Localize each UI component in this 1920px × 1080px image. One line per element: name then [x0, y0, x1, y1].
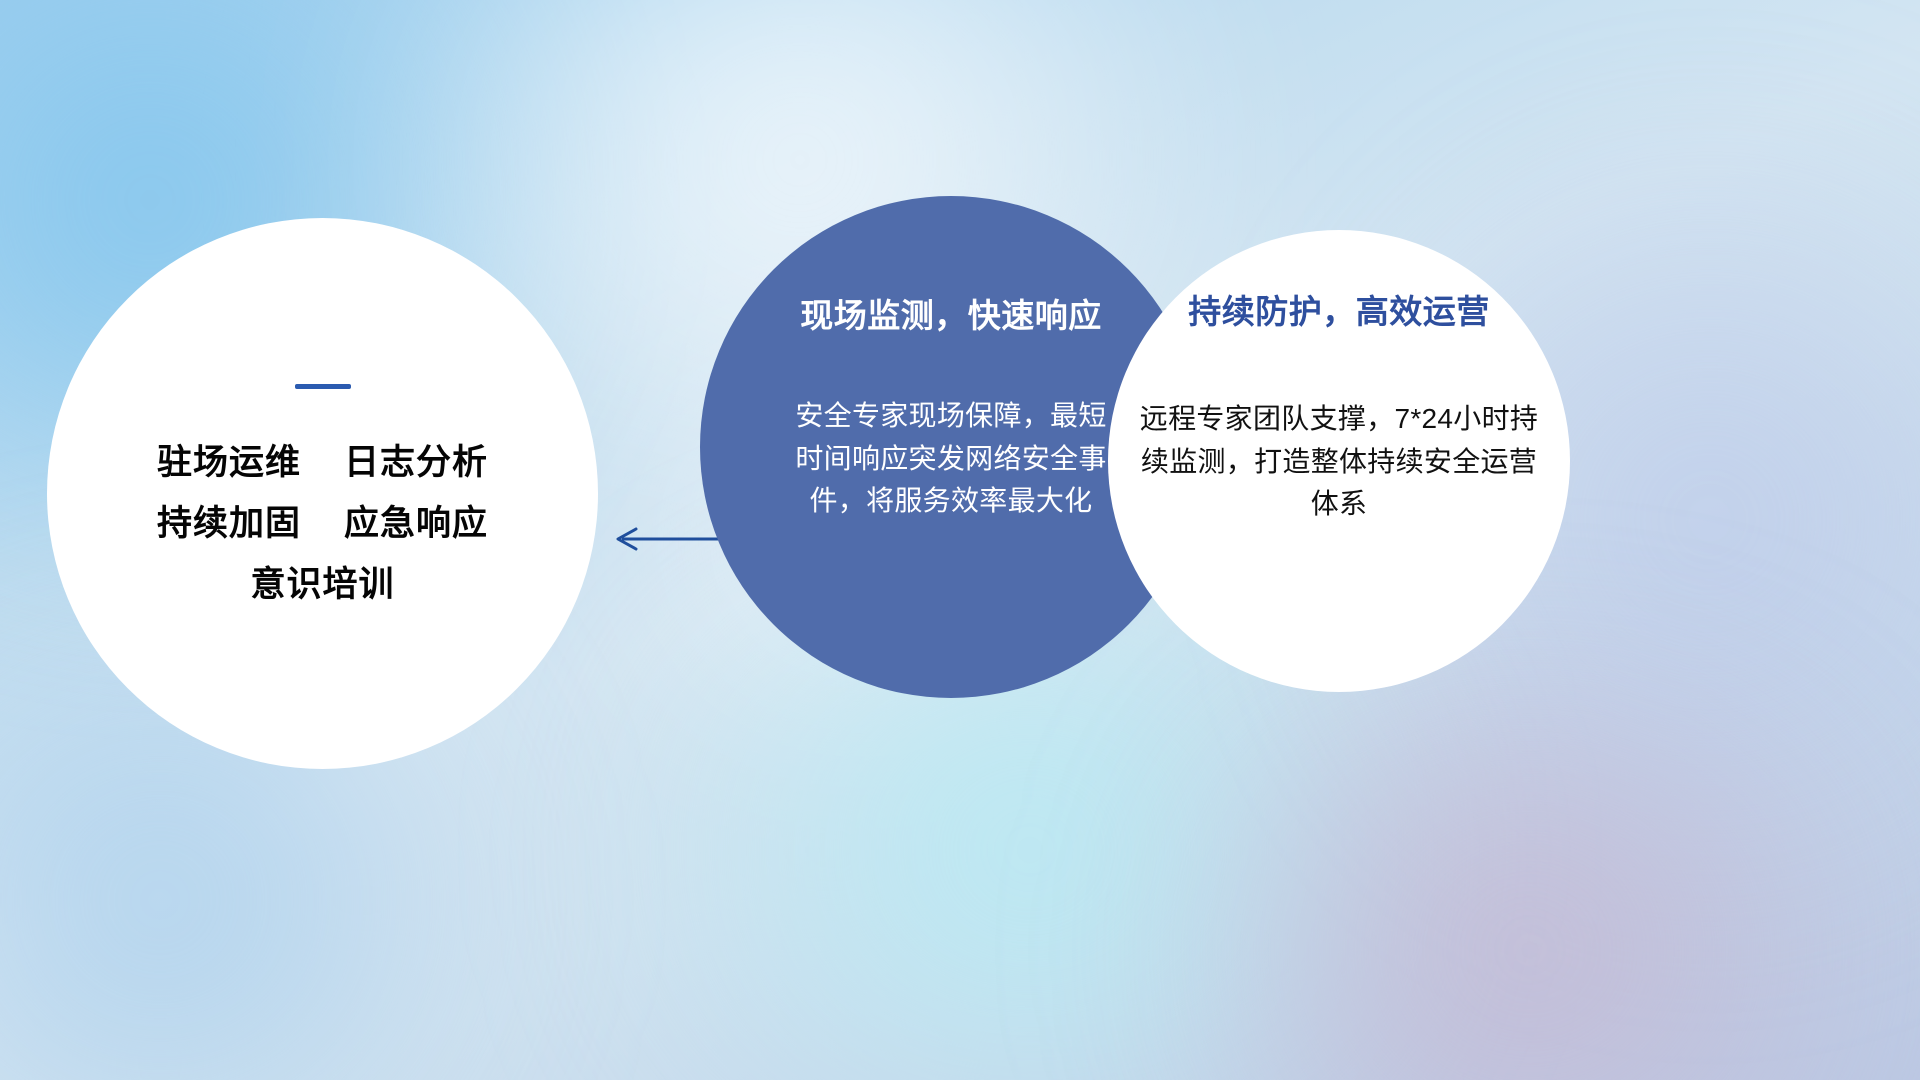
slide-canvas: 驻场运维 日志分析 持续加固 应急响应 意识培训 现场监测，快速响应 安全专家现…: [0, 0, 1920, 1080]
onsite-monitoring-heading: 现场监测，快速响应: [800, 299, 1102, 332]
divider-dash-icon: [295, 384, 351, 389]
continuous-protection-circle[interactable]: 持续防护，高效运营 远程专家团队支撑，7*24小时持续监测，打造整体持续安全运营…: [1108, 230, 1570, 692]
onsite-monitoring-body: 安全专家现场保障，最短时间响应突发网络安全事件，将服务效率最大化: [786, 395, 1116, 523]
capabilities-list: 驻场运维 日志分析 持续加固 应急响应 意识培训: [47, 445, 598, 602]
capabilities-line-1: 驻场运维 日志分析: [157, 445, 488, 480]
continuous-protection-body: 远程专家团队支撑，7*24小时持续监测，打造整体持续安全运营体系: [1134, 398, 1544, 526]
capabilities-circle[interactable]: 驻场运维 日志分析 持续加固 应急响应 意识培训: [47, 218, 598, 769]
capabilities-line-3: 意识培训: [250, 567, 394, 602]
capabilities-line-2: 持续加固 应急响应: [157, 506, 488, 541]
continuous-protection-heading: 持续防护，高效运营: [1188, 295, 1490, 328]
